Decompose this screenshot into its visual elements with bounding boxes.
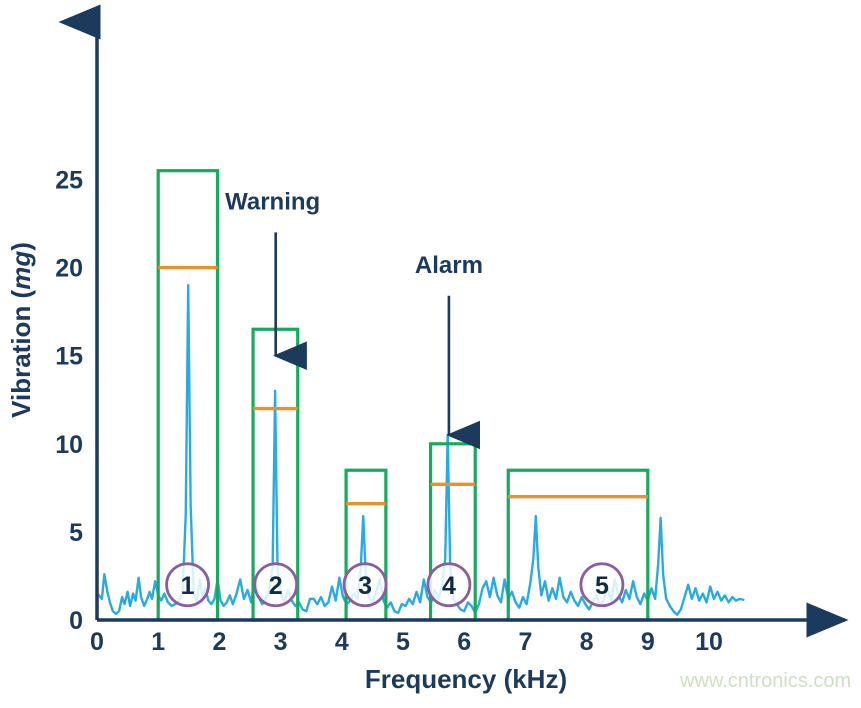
- alarm-annotation: Alarm: [415, 252, 483, 435]
- frequency-marker[interactable]: 2: [255, 564, 297, 606]
- y-axis-title: Vibration (mg): [6, 242, 36, 418]
- chart-canvas: 12345 012345678910 0510152025 WarningAla…: [0, 0, 861, 708]
- x-tick-label: 0: [90, 628, 104, 656]
- annotation-label: Warning: [225, 188, 320, 215]
- marker-label: 4: [442, 572, 456, 600]
- marker-label: 1: [181, 572, 195, 600]
- frequency-marker[interactable]: 1: [167, 564, 209, 606]
- x-tick-label: 5: [396, 628, 410, 656]
- frequency-marker[interactable]: 5: [581, 564, 623, 606]
- annotations-group: WarningAlarm: [225, 188, 483, 435]
- y-axis-title-main: Vibration (: [6, 289, 36, 417]
- x-tick-label: 7: [518, 628, 532, 656]
- y-tick-label: 10: [55, 431, 83, 459]
- y-axis-title-tail: ): [6, 242, 36, 251]
- y-tick-label: 0: [69, 607, 83, 635]
- y-tick-label: 15: [55, 343, 83, 371]
- x-tick-label: 4: [335, 628, 349, 656]
- x-tick-label: 10: [695, 628, 723, 656]
- frequency-marker[interactable]: 4: [428, 564, 470, 606]
- x-tick-labels: 012345678910: [90, 628, 723, 656]
- y-tick-label: 20: [55, 255, 83, 283]
- marker-label: 5: [595, 572, 609, 600]
- x-axis-title: Frequency (kHz): [365, 664, 567, 694]
- x-tick-label: 8: [580, 628, 594, 656]
- annotation-label: Alarm: [415, 252, 483, 279]
- alarm-threshold-box: [508, 470, 648, 620]
- vibration-spectrum-chart: 12345 012345678910 0510152025 WarningAla…: [0, 0, 861, 708]
- marker-label: 3: [358, 572, 372, 600]
- y-tick-label: 5: [69, 519, 83, 547]
- x-tick-label: 9: [641, 628, 655, 656]
- watermark-text: www.cntronics.com: [679, 670, 851, 692]
- threshold-band: [508, 470, 648, 620]
- y-tick-labels: 0510152025: [55, 167, 83, 636]
- x-tick-label: 1: [151, 628, 165, 656]
- frequency-marker[interactable]: 3: [344, 564, 386, 606]
- x-tick-label: 2: [212, 628, 226, 656]
- axes-group: [97, 22, 845, 620]
- y-axis-title-unit: mg: [6, 251, 36, 290]
- x-tick-label: 3: [274, 628, 288, 656]
- y-tick-label: 25: [55, 167, 83, 195]
- threshold-bands-group: [158, 171, 648, 620]
- x-tick-label: 6: [457, 628, 471, 656]
- marker-label: 2: [269, 572, 283, 600]
